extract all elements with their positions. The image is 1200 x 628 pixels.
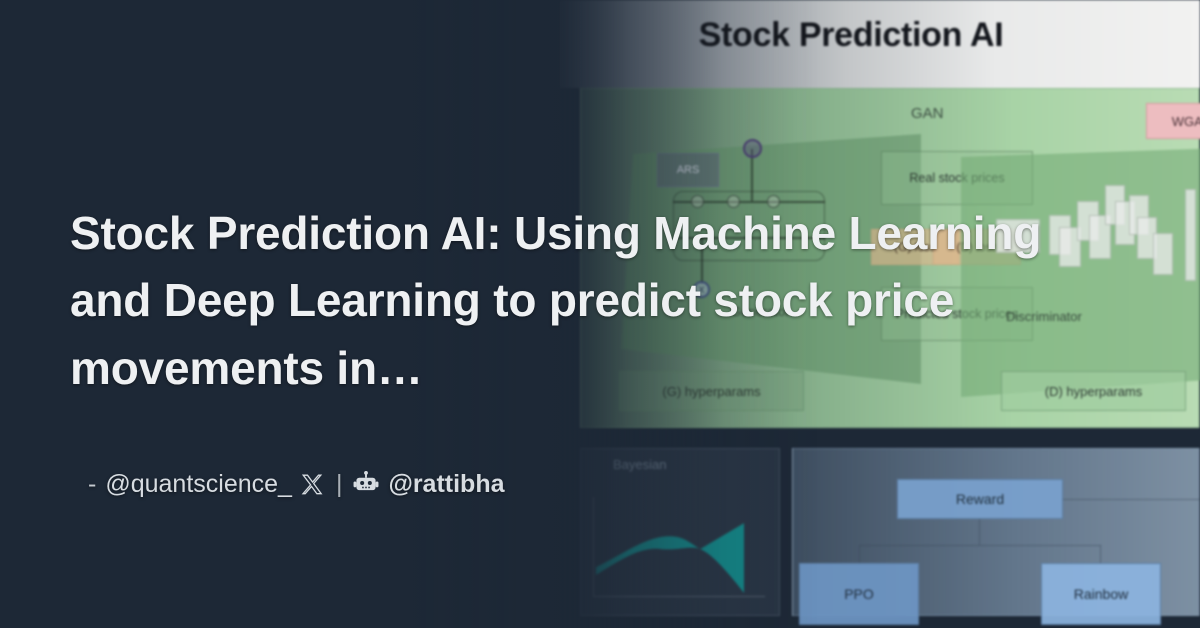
twitter-handle: @quantscience_ — [105, 470, 292, 499]
attribution-dash: - — [88, 470, 96, 499]
social-preview-card: Stock Prediction AI GAN WGAN ARS Generat… — [0, 0, 1200, 628]
attribution-line: - @quantscience_ | @rattibha — [88, 470, 505, 499]
page-title: Stock Prediction AI: Using Machine Learn… — [70, 200, 1070, 403]
attribution-separator: | — [336, 470, 343, 499]
x-logo-icon[interactable] — [301, 473, 325, 497]
robot-icon — [353, 471, 379, 498]
rattibha-handle: @rattibha — [388, 470, 504, 499]
card-foreground: Stock Prediction AI: Using Machine Learn… — [0, 0, 1200, 628]
